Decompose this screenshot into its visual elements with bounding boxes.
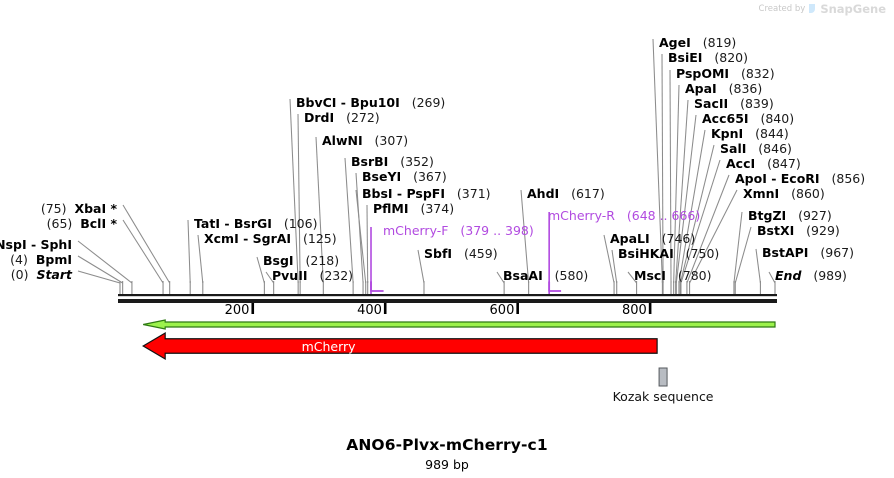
restriction-site-label[interactable]: PvuII (232): [272, 268, 353, 283]
site-enzyme-name: DrdI: [304, 110, 334, 125]
restriction-site-label[interactable]: ApaI (836): [685, 81, 762, 96]
site-leader-line: [123, 205, 170, 283]
site-position: (860): [791, 186, 825, 201]
site-enzyme-name: XmnI: [743, 186, 779, 201]
site-position: (746): [662, 231, 696, 246]
restriction-site-label[interactable]: BstXI (929): [757, 223, 840, 238]
site-enzyme-name: BsaAI: [503, 268, 543, 283]
restriction-site-label[interactable]: BsiHKAI (750): [618, 246, 719, 261]
site-position: (75): [41, 201, 67, 216]
plasmid-name: ANO6-Plvx-mCherry-c1: [0, 436, 894, 454]
ruler: [251, 303, 651, 314]
site-enzyme-name: AhdI: [527, 186, 559, 201]
site-position: (989): [813, 268, 847, 283]
ruler-tick-label: 200: [219, 303, 249, 318]
site-enzyme-name: AlwNI: [322, 133, 363, 148]
site-position: (125): [303, 231, 337, 246]
site-position: (820): [714, 50, 748, 65]
site-enzyme-name: BclI *: [80, 216, 117, 231]
restriction-site-label[interactable]: PspOMI (832): [676, 66, 775, 81]
site-enzyme-name: PflMI: [373, 201, 409, 216]
restriction-site-label[interactable]: SbfI (459): [424, 246, 498, 261]
restriction-site-label[interactable]: (0) Start: [11, 267, 72, 282]
mcherry-feature-label: mCherry: [0, 339, 657, 354]
site-enzyme-name: BbsI - PspFI: [362, 186, 445, 201]
site-position: (232): [319, 268, 353, 283]
restriction-site-label[interactable]: Acc65I (840): [702, 111, 794, 126]
site-position: (927): [798, 208, 832, 223]
restriction-site-label[interactable]: AlwNI (307): [322, 133, 408, 148]
ruler-tick: [516, 303, 519, 314]
site-enzyme-name: PspOMI: [676, 66, 729, 81]
site-leader-line: [345, 158, 353, 283]
site-enzyme-name: BbvCI - Bpu10I: [296, 95, 400, 110]
backbone-upper-line: [118, 294, 777, 296]
kozak-sequence-label: Kozak sequence: [573, 389, 753, 404]
site-enzyme-name: BtgZI: [748, 208, 786, 223]
restriction-site-label[interactable]: SacII (839): [694, 96, 774, 111]
restriction-site-label[interactable]: AgeI (819): [659, 35, 736, 50]
primer-bracket: [371, 282, 384, 291]
restriction-site-label[interactable]: AhdI (617): [527, 186, 605, 201]
backbone-lower-line: [118, 299, 777, 303]
restriction-site-label[interactable]: BbsI - PspFI (371): [362, 186, 491, 201]
kozak-box[interactable]: [659, 368, 667, 386]
site-position: (844): [755, 126, 789, 141]
site-enzyme-name: BpmI: [36, 252, 72, 267]
site-enzyme-name: XcmI - SgrAI: [204, 231, 291, 246]
site-position: (379 .. 398): [460, 223, 533, 238]
site-position: (847): [767, 156, 801, 171]
site-enzyme-name: BsiHKAI: [618, 246, 674, 261]
site-enzyme-name: BsiEI: [668, 50, 702, 65]
site-leader-line: [367, 205, 368, 283]
site-position: (832): [741, 66, 775, 81]
site-position: (967): [820, 245, 854, 260]
site-enzyme-name: SalI: [720, 141, 746, 156]
restriction-site-label[interactable]: End (989): [775, 268, 847, 283]
restriction-site-label[interactable]: BseYI (367): [362, 169, 447, 184]
backbone: [118, 294, 777, 303]
ruler-tick: [251, 303, 254, 314]
plasmid-length: 989 bp: [0, 457, 894, 472]
site-leader-line: [756, 249, 760, 283]
site-enzyme-name: ApoI - EcoRI: [735, 171, 820, 186]
restriction-site-label[interactable]: BsrBI (352): [351, 154, 434, 169]
site-position: (65): [47, 216, 73, 231]
site-enzyme-name: SbfI: [424, 246, 452, 261]
site-enzyme-name: BseYI: [362, 169, 401, 184]
site-enzyme-name: KpnI: [711, 126, 743, 141]
site-position: (929): [806, 223, 840, 238]
restriction-site-label[interactable]: BbvCI - Bpu10I (269): [296, 95, 445, 110]
feature-arrow-green-arrow[interactable]: [143, 320, 775, 329]
site-enzyme-name: BstXI: [757, 223, 794, 238]
restriction-site-label[interactable]: (75) XbaI *: [41, 201, 117, 216]
site-leader-line: [188, 220, 190, 283]
site-position: (459): [464, 246, 498, 261]
restriction-site-label[interactable]: ApaLI (746): [610, 231, 695, 246]
restriction-site-label[interactable]: ApoI - EcoRI (856): [735, 171, 865, 186]
site-position: (106): [284, 216, 318, 231]
restriction-site-label[interactable]: (4) BpmI: [10, 252, 72, 267]
site-leader-line: [78, 241, 132, 283]
restriction-site-label[interactable]: BsgI (218): [263, 253, 339, 268]
site-position: (367): [413, 169, 447, 184]
site-position: (856): [832, 171, 866, 186]
restriction-site-label[interactable]: BsiEI (820): [668, 50, 748, 65]
ruler-tick-label: 600: [484, 303, 514, 318]
site-position: (839): [740, 96, 774, 111]
site-position: (648 .. 666): [627, 208, 700, 223]
restriction-site-label[interactable]: DrdI (272): [304, 110, 380, 125]
ruler-tick: [384, 303, 387, 314]
ruler-tick-label: 800: [617, 303, 647, 318]
kozak-marker[interactable]: [659, 368, 667, 386]
site-leader-line: [78, 256, 123, 283]
restriction-site-label[interactable]: TatI - BsrGI (106): [194, 216, 317, 231]
site-enzyme-name: MscI: [634, 268, 666, 283]
site-position: (269): [412, 95, 446, 110]
site-enzyme-name: AgeI: [659, 35, 691, 50]
site-enzyme-name: Acc65I: [702, 111, 749, 126]
site-position: (840): [760, 111, 794, 126]
site-position: (352): [400, 154, 434, 169]
site-leader-line: [356, 190, 366, 283]
restriction-site-label[interactable]: XcmI - SgrAI (125): [204, 231, 337, 246]
site-enzyme-name: NspI - SphI: [0, 237, 72, 252]
site-position: (819): [703, 35, 737, 50]
map-title: ANO6-Plvx-mCherry-c1 989 bp: [0, 436, 894, 472]
site-enzyme-name: TatI - BsrGI: [194, 216, 272, 231]
restriction-site-label[interactable]: XmnI (860): [743, 186, 825, 201]
restriction-site-label[interactable]: mCherry-R (648 .. 666): [548, 208, 700, 223]
restriction-site-label[interactable]: BtgZI (927): [748, 208, 832, 223]
site-position: (836): [729, 81, 763, 96]
site-leader-line: [198, 235, 203, 283]
site-enzyme-name: ApaI: [685, 81, 717, 96]
site-enzyme-name: PvuII: [272, 268, 308, 283]
site-enzyme-name: BstAPI: [762, 245, 808, 260]
site-position: (617): [571, 186, 605, 201]
site-position: (307): [375, 133, 409, 148]
site-enzyme-name: BsrBI: [351, 154, 388, 169]
site-position: (218): [306, 253, 340, 268]
site-position: (272): [346, 110, 380, 125]
site-enzyme-name: BsgI: [263, 253, 294, 268]
site-position: (371): [457, 186, 491, 201]
site-enzyme-name: SacII: [694, 96, 728, 111]
site-position: (4): [10, 252, 28, 267]
site-enzyme-name: mCherry-F: [383, 223, 448, 238]
site-enzyme-name: XbaI *: [74, 201, 117, 216]
site-position: (846): [758, 141, 792, 156]
site-position: (580): [555, 268, 589, 283]
restriction-site-label[interactable]: KpnI (844): [711, 126, 789, 141]
site-position: (374): [420, 201, 454, 216]
ruler-tick-label: 400: [352, 303, 382, 318]
restriction-site-label[interactable]: BstAPI (967): [762, 245, 854, 260]
restriction-site-label[interactable]: AccI (847): [726, 156, 801, 171]
restriction-site-label[interactable]: BsaAI (580): [503, 268, 588, 283]
site-enzyme-name: ApaLI: [610, 231, 650, 246]
restriction-site-label[interactable]: PflMI (374): [373, 201, 454, 216]
primer-bracket: [549, 282, 561, 291]
site-leader-line: [123, 220, 163, 283]
restriction-site-label[interactable]: mCherry-F (379 .. 398): [383, 223, 534, 238]
restriction-site-label[interactable]: SalI (846): [720, 141, 792, 156]
site-enzyme-name: Start: [36, 267, 72, 282]
restriction-site-label[interactable]: (65) BclI *: [47, 216, 117, 231]
site-position: (750): [686, 246, 720, 261]
restriction-site-label[interactable]: MscI (780): [634, 268, 712, 283]
site-position: (780): [678, 268, 712, 283]
ruler-tick: [649, 303, 652, 314]
site-enzyme-name: mCherry-R: [548, 208, 615, 223]
restriction-site-label[interactable]: (18) NspI - SphI: [0, 237, 72, 252]
site-enzyme-name: End: [775, 268, 801, 283]
site-position: (0): [11, 267, 29, 282]
site-enzyme-name: AccI: [726, 156, 755, 171]
